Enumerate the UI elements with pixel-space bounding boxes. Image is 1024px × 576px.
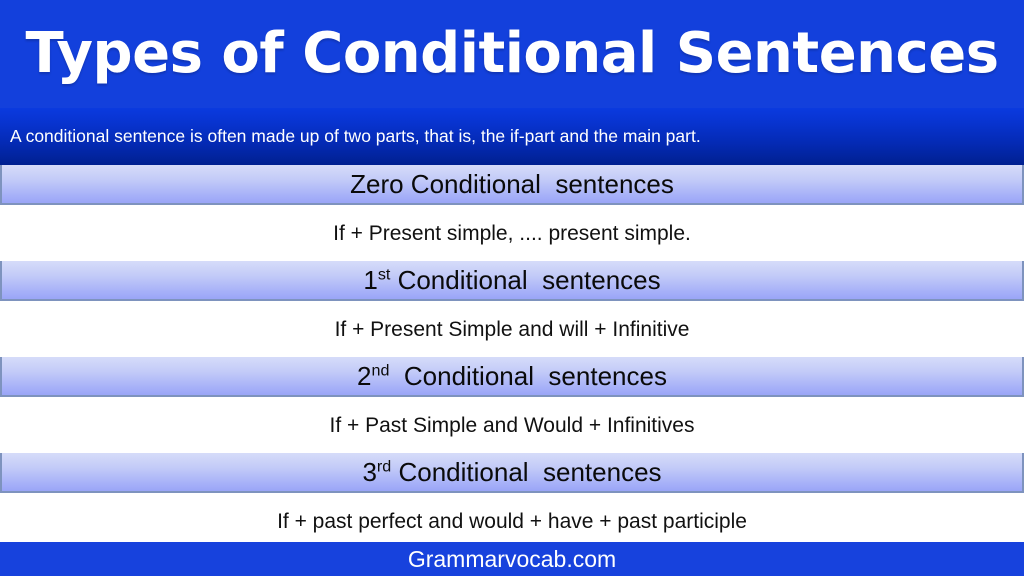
section-header-tail: Conditional sentences (404, 169, 674, 199)
section-body-second: If + Past Simple and Would + Infinitives (0, 397, 1024, 453)
section-body-first: If + Present Simple and will + Infinitiv… (0, 301, 1024, 357)
section-header-second: 2nd Conditional sentences (0, 357, 1024, 397)
section-ordinal: 2 (357, 361, 371, 391)
section-header-tail: Conditional sentences (391, 457, 661, 487)
section-zero-conditional: Zero Conditional sentences If + Present … (0, 165, 1024, 261)
section-ordinal: Zero (350, 169, 403, 199)
section-body-zero: If + Present simple, .... present simple… (0, 205, 1024, 261)
section-header-label: 1st Conditional sentences (363, 267, 660, 293)
section-header-label: 3rd Conditional sentences (362, 459, 661, 485)
section-second-conditional: 2nd Conditional sentences If + Past Simp… (0, 357, 1024, 453)
section-header-zero: Zero Conditional sentences (0, 165, 1024, 205)
section-formula: If + Past Simple and Would + Infinitives (330, 415, 695, 436)
section-ordinal-suffix: st (378, 265, 391, 283)
poster-root: Types of Conditional Sentences A conditi… (0, 0, 1024, 576)
section-formula: If + Present simple, .... present simple… (333, 223, 691, 244)
section-header-label: Zero Conditional sentences (350, 171, 674, 197)
section-header-tail: Conditional sentences (390, 265, 660, 295)
conditional-sections-list: Zero Conditional sentences If + Present … (0, 165, 1024, 549)
section-header-third: 3rd Conditional sentences (0, 453, 1024, 493)
section-header-first: 1st Conditional sentences (0, 261, 1024, 301)
site-credit: Grammarvocab.com (408, 548, 616, 571)
section-body-third: If + past perfect and would + have + pas… (0, 493, 1024, 549)
section-formula: If + Present Simple and will + Infinitiv… (335, 319, 690, 340)
section-header-label: 2nd Conditional sentences (357, 363, 667, 389)
section-ordinal-suffix: nd (372, 361, 390, 379)
section-formula: If + past perfect and would + have + pas… (277, 511, 747, 532)
section-first-conditional: 1st Conditional sentences If + Present S… (0, 261, 1024, 357)
section-ordinal: 1 (363, 265, 377, 295)
title-banner: Types of Conditional Sentences (0, 0, 1024, 108)
subtitle-text: A conditional sentence is often made up … (0, 126, 701, 147)
section-ordinal-suffix: rd (377, 457, 391, 475)
section-ordinal: 3 (362, 457, 376, 487)
section-third-conditional: 3rd Conditional sentences If + past perf… (0, 453, 1024, 549)
subtitle-banner: A conditional sentence is often made up … (0, 108, 1024, 165)
section-header-tail: Conditional sentences (389, 361, 667, 391)
page-title: Types of Conditional Sentences (25, 26, 998, 82)
footer-banner: Grammarvocab.com (0, 542, 1024, 576)
